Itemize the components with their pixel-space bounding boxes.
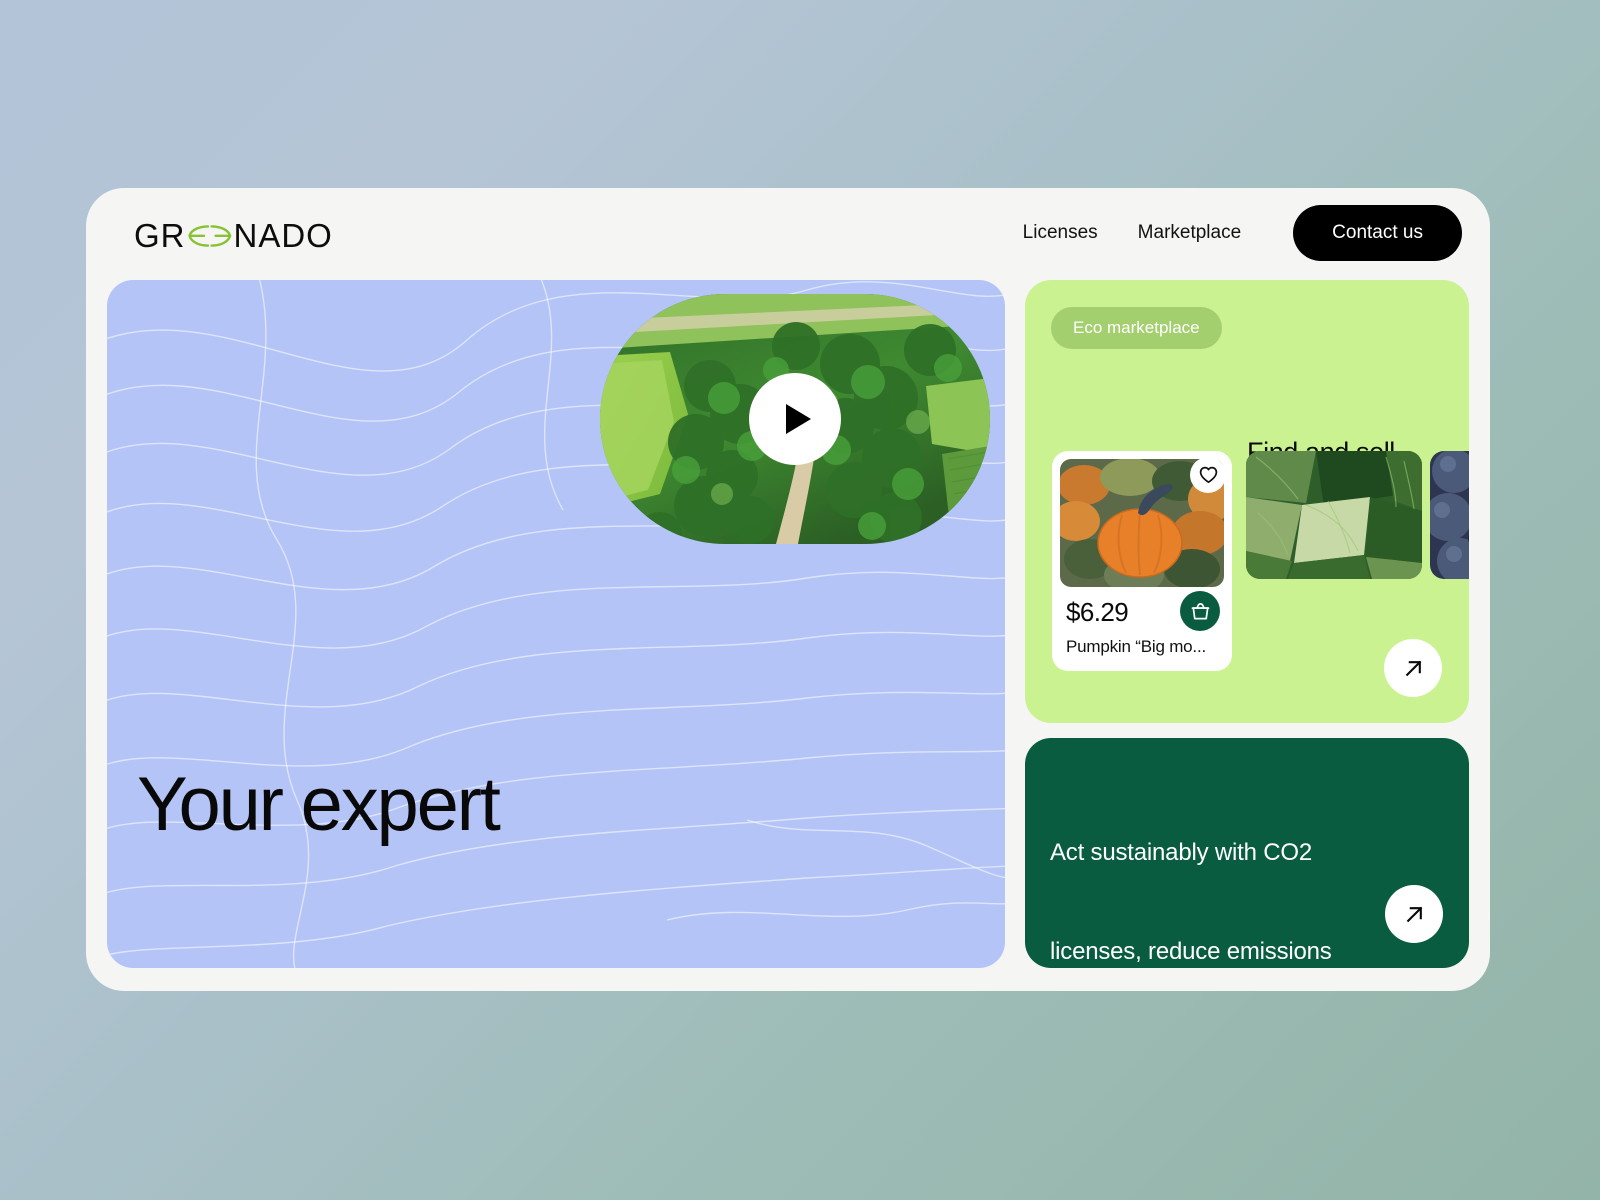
- nav-link-licenses[interactable]: Licenses: [1003, 222, 1118, 244]
- marketplace-open-button[interactable]: [1384, 639, 1442, 697]
- co2-text-line-2: licenses, reduce emissions: [1050, 935, 1332, 968]
- logo-text-part1: GR: [134, 217, 186, 255]
- arrow-up-right-icon: [1403, 658, 1424, 679]
- site-header: GRNADO Licenses Marketplace Contact us: [86, 188, 1490, 282]
- contact-us-button[interactable]: Contact us: [1293, 205, 1462, 261]
- cabbage-illustration: [1246, 451, 1422, 579]
- logo-text: GRNADO: [134, 217, 333, 255]
- play-icon: [786, 404, 811, 434]
- marketplace-card: Eco marketplace Find and sell eco food e…: [1025, 280, 1469, 723]
- video-thumbnail[interactable]: [600, 294, 990, 544]
- arrow-up-right-icon: [1404, 904, 1425, 925]
- product-name: Pumpkin “Big mo...: [1066, 637, 1206, 657]
- browser-frame: GRNADO Licenses Marketplace Contact us: [86, 188, 1490, 991]
- headline-line-1: Your expert: [137, 761, 670, 849]
- product-thumbnail-blueberries[interactable]: [1430, 451, 1469, 579]
- favorite-button[interactable]: [1190, 457, 1226, 493]
- hero-panel: Your expert in the field of eco developm…: [107, 280, 1005, 968]
- logo[interactable]: GRNADO: [134, 216, 333, 256]
- product-thumbnail-cabbage[interactable]: [1246, 451, 1422, 579]
- basket-icon: [1190, 601, 1211, 622]
- logo-ee-mark: [186, 223, 234, 249]
- co2-card-text: Act sustainably with CO2 licenses, reduc…: [1050, 770, 1332, 968]
- co2-open-button[interactable]: [1385, 885, 1443, 943]
- co2-text-line-1: Act sustainably with CO2: [1050, 836, 1332, 869]
- co2-licenses-card: Act sustainably with CO2 licenses, reduc…: [1025, 738, 1469, 968]
- logo-text-part3: NADO: [234, 217, 333, 255]
- nav-link-marketplace[interactable]: Marketplace: [1118, 222, 1262, 244]
- play-button[interactable]: [749, 373, 841, 465]
- main-nav: Licenses Marketplace Contact us: [1003, 205, 1462, 261]
- product-price: $6.29: [1066, 597, 1128, 628]
- add-to-cart-button[interactable]: [1180, 591, 1220, 631]
- heart-icon: [1199, 466, 1218, 484]
- eco-marketplace-badge[interactable]: Eco marketplace: [1051, 307, 1222, 349]
- blueberry-illustration: [1430, 451, 1469, 579]
- hero-headline: Your expert in the field of eco developm…: [137, 585, 670, 968]
- product-card[interactable]: $6.29 Pumpkin “Big mo...: [1052, 451, 1232, 671]
